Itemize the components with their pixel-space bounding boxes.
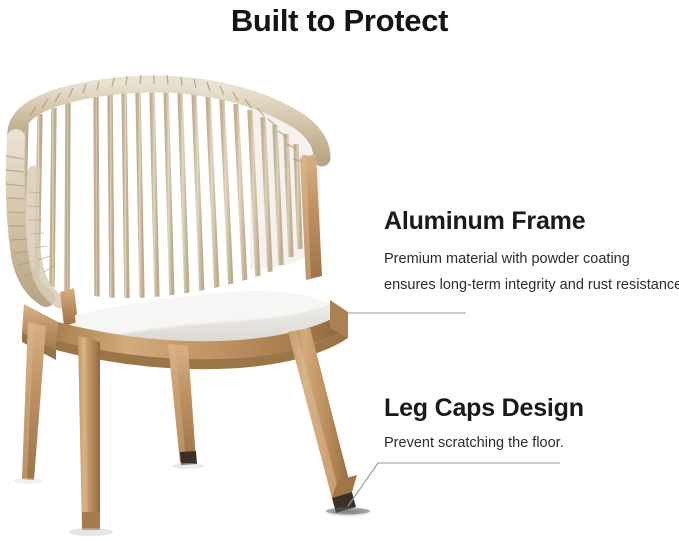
product-image-chair: [0, 60, 400, 541]
feature-heading-leg-caps-design: Leg Caps Design: [384, 393, 584, 423]
feature-body-leg-caps-design: Prevent scratching the floor.: [384, 430, 584, 456]
page-title: Built to Protect: [0, 2, 679, 40]
chair-back-post-left: [60, 288, 78, 326]
feature-body-aluminum-frame: Premium material with powder coating ens…: [384, 246, 679, 298]
feature-block-aluminum-frame: Aluminum Frame Premium material with pow…: [384, 206, 679, 298]
leg-cap-back-right: [180, 451, 197, 465]
feature-body-line-2: ensures long-term integrity and rust res…: [384, 272, 679, 298]
feature-heading-aluminum-frame: Aluminum Frame: [384, 206, 679, 236]
feature-body-line-1: Prevent scratching the floor.: [384, 430, 584, 456]
feature-block-leg-caps-design: Leg Caps Design Prevent scratching the f…: [384, 393, 584, 456]
infographic-canvas: Built to Protect: [0, 0, 679, 541]
feature-body-line-1: Premium material with powder coating: [384, 246, 679, 272]
